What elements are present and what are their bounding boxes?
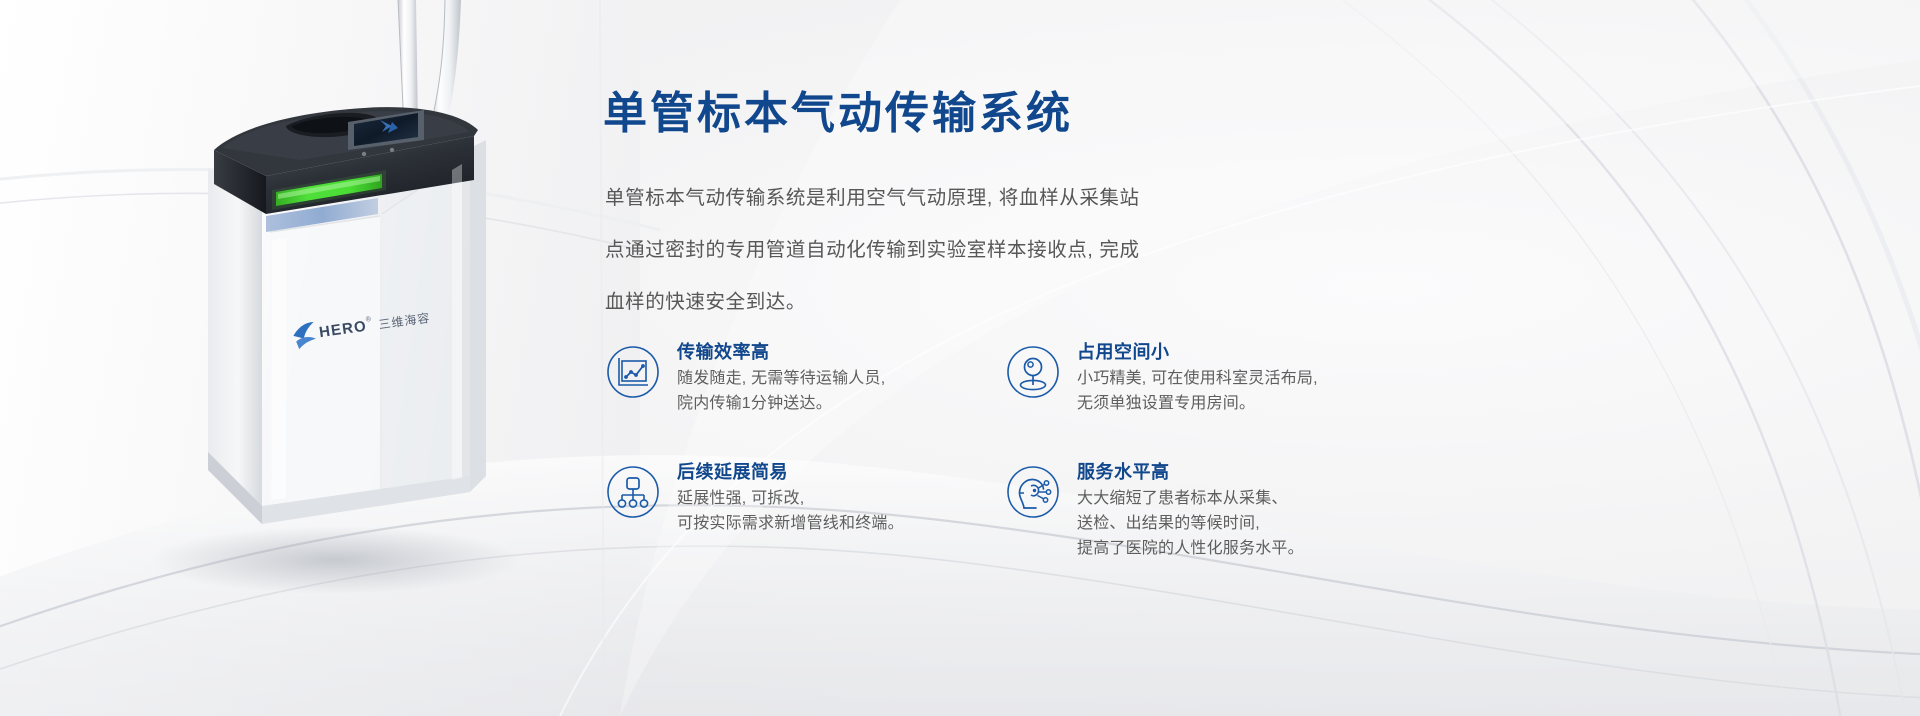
feature-body-line: 延展性强, 可拆改,	[677, 486, 904, 511]
feature-heading: 占用空间小	[1077, 342, 1170, 362]
hero-description: 单管标本气动传输系统是利用空气气动原理, 将血样从采集站 点通过密封的专用管道自…	[605, 172, 1265, 328]
feature-item-service-level: 服务水平高 大大缩短了患者标本从采集、 送检、出结果的等候时间, 提高了医院的人…	[1005, 456, 1305, 560]
product-image: HERO ® 三维海容	[0, 0, 620, 716]
smart-head-icon	[1005, 464, 1061, 520]
feature-body-line: 院内传输1分钟送达。	[677, 391, 885, 416]
feature-heading: 服务水平高	[1077, 462, 1170, 482]
feature-body: 大大缩短了患者标本从采集、 送检、出结果的等候时间, 提高了医院的人性化服务水平…	[1077, 486, 1304, 561]
page-title: 单管标本气动传输系统	[603, 88, 1073, 141]
feature-body-line: 无须单独设置专用房间。	[1077, 391, 1318, 416]
feature-body: 延展性强, 可拆改, 可按实际需求新增管线和终端。	[677, 486, 904, 536]
feature-item-small-footprint: 占用空间小 小巧精美, 可在使用科室灵活布局, 无须单独设置专用房间。	[1005, 336, 1305, 440]
feature-heading: 后续延展简易	[677, 462, 788, 482]
chart-trend-icon	[605, 344, 661, 400]
hero-content: 单管标本气动传输系统 单管标本气动传输系统是利用空气气动原理, 将血样从采集站 …	[603, 0, 1920, 716]
feature-body-line: 大大缩短了患者标本从采集、	[1077, 486, 1304, 511]
feature-body: 随发随走, 无需等待运输人员, 院内传输1分钟送达。	[677, 366, 885, 416]
feature-item-transmission-efficiency: 传输效率高 随发随走, 无需等待运输人员, 院内传输1分钟送达。	[605, 336, 1005, 440]
feature-item-easy-extension: 后续延展简易 延展性强, 可拆改, 可按实际需求新增管线和终端。	[605, 456, 1005, 560]
feature-body-line: 随发随走, 无需等待运输人员,	[677, 366, 885, 391]
network-tree-icon	[605, 464, 661, 520]
feature-body-line: 可按实际需求新增管线和终端。	[677, 511, 904, 536]
feature-body-line: 小巧精美, 可在使用科室灵活布局,	[1077, 366, 1318, 391]
hero-banner: HERO ® 三维海容 单管标本气动传输系统 单管标本气动传输系统是利用空气气动…	[0, 0, 1920, 716]
feature-body: 小巧精美, 可在使用科室灵活布局, 无须单独设置专用房间。	[1077, 366, 1318, 416]
feature-body-line: 送检、出结果的等候时间,	[1077, 511, 1304, 536]
location-pin-icon	[1005, 344, 1061, 400]
feature-body-line: 提高了医院的人性化服务水平。	[1077, 536, 1304, 561]
description-line: 点通过密封的专用管道自动化传输到实验室样本接收点, 完成	[605, 224, 1265, 276]
feature-list: 传输效率高 随发随走, 无需等待运输人员, 院内传输1分钟送达。	[605, 336, 1305, 560]
feature-heading: 传输效率高	[677, 342, 770, 362]
product-illustration: HERO ® 三维海容	[0, 0, 620, 716]
description-line: 单管标本气动传输系统是利用空气气动原理, 将血样从采集站	[605, 172, 1265, 224]
description-line: 血样的快速安全到达。	[605, 276, 1265, 328]
